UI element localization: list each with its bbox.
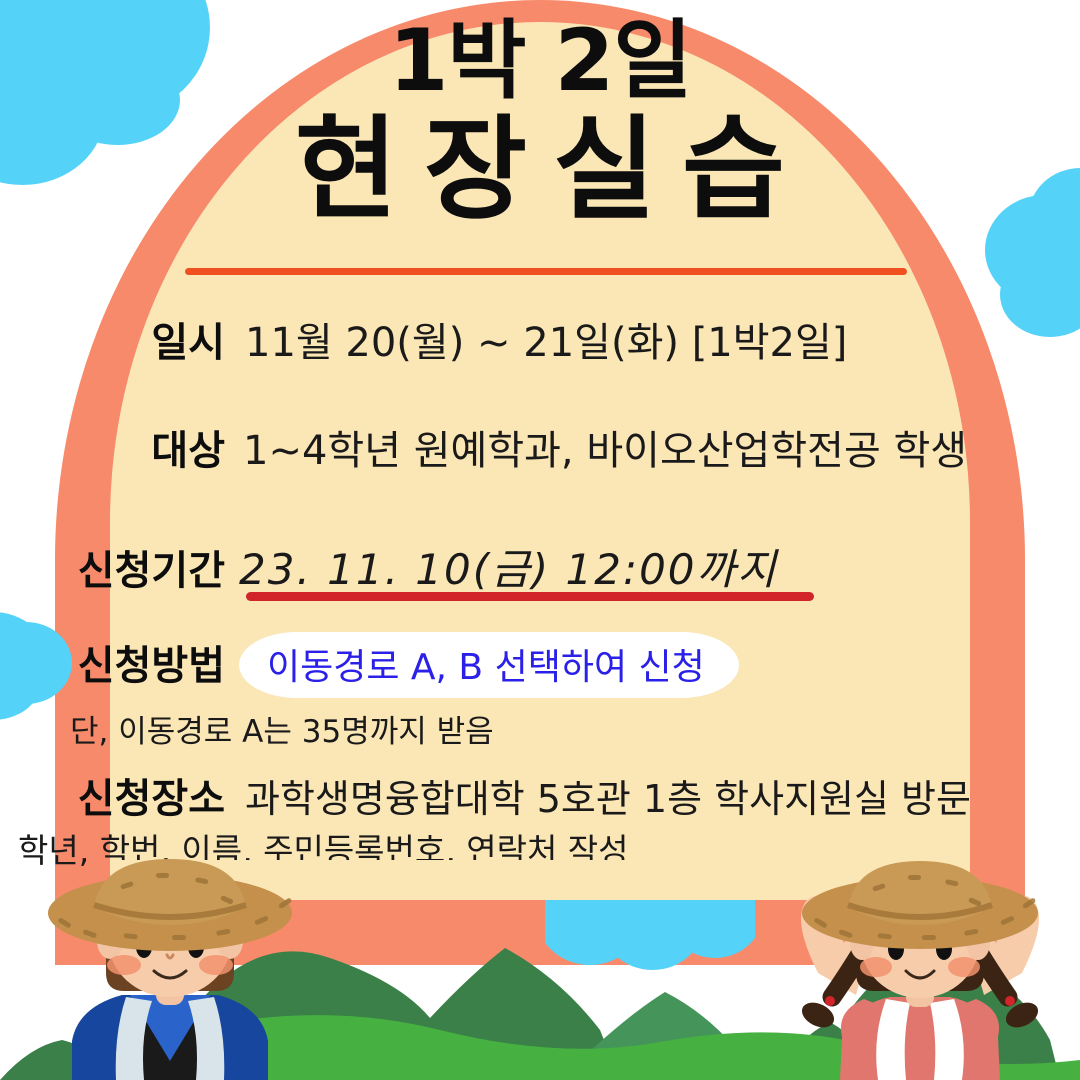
row-application-place: 신청장소 과학생명융합대학 5호관 1층 학사지원실 방문 [0, 766, 971, 824]
title-block: 1박 2일 현장실습 [0, 18, 1080, 231]
title-divider [185, 268, 907, 275]
row-application-period: 신청기간 23. 11. 10(금) 12:00까지 [0, 536, 778, 597]
method-note-text: 단, 이동경로 A는 35명까지 받음 [70, 706, 494, 751]
title-line-1: 1박 2일 [0, 18, 1080, 104]
value-application-method: 이동경로 A, B 선택하여 신청 [267, 647, 705, 688]
row-date: 일시 11월 20(월) ~ 21일(화) [1박2일] [0, 310, 847, 368]
value-application-period: 23. 11. 10(금) 12:00까지 [239, 536, 778, 597]
value-target: 1~4학년 원예학과, 바이오산업학전공 학생 [243, 418, 967, 476]
row-target: 대상 1~4학년 원예학과, 바이오산업학전공 학생 [0, 418, 967, 476]
label-application-place: 신청장소 [0, 766, 225, 824]
label-date: 일시 [0, 310, 225, 368]
value-application-place: 과학생명융합대학 5호관 1층 학사지원실 방문 [245, 768, 971, 823]
application-period-underline [246, 592, 814, 601]
character-right [760, 855, 1080, 1080]
label-application-period: 신청기간 [0, 538, 225, 596]
label-target: 대상 [0, 418, 225, 476]
label-application-method: 신청방법 [0, 633, 225, 691]
poster-root: 1박 2일 현장실습 일시 11월 20(월) ~ 21일(화) [1박2일] … [0, 0, 1080, 1080]
title-line-2: 현장실습 [26, 110, 1080, 231]
character-left [10, 855, 330, 1080]
row-method-note: 단, 이동경로 A는 35명까지 받음 [0, 706, 1080, 751]
value-date: 11월 20(월) ~ 21일(화) [1박2일] [245, 310, 847, 368]
row-application-method: 신청방법 이동경로 A, B 선택하여 신청 [0, 632, 739, 698]
application-method-highlight: 이동경로 A, B 선택하여 신청 [239, 632, 739, 698]
